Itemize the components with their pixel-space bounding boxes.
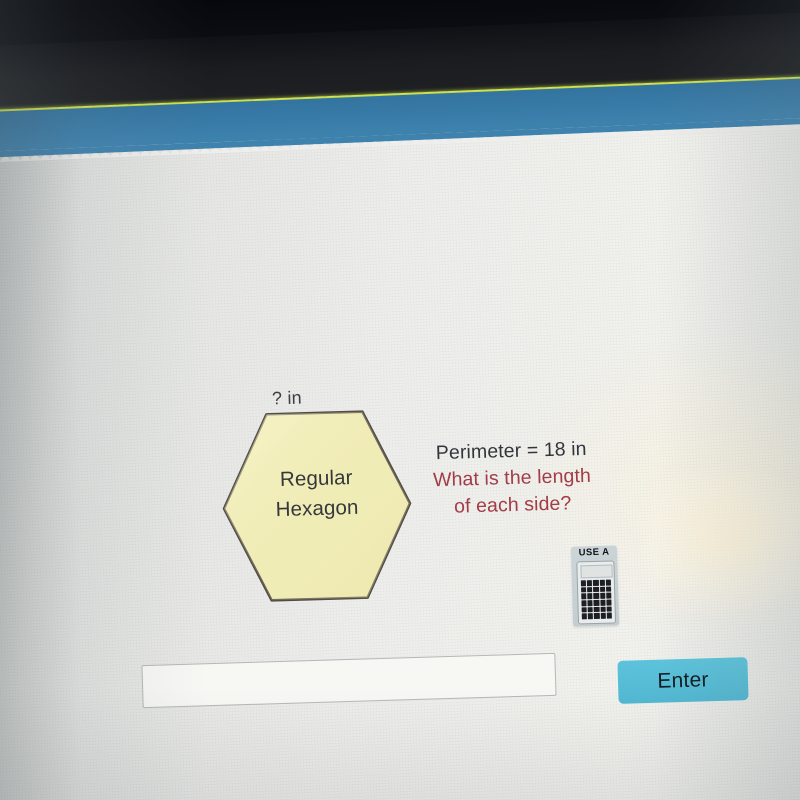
calculator-key <box>582 614 587 620</box>
calculator-key <box>587 580 592 586</box>
hexagon-figure: Regular Hexagon <box>218 407 415 604</box>
calculator-key <box>581 600 586 606</box>
calculator-display <box>580 565 612 579</box>
calculator-key <box>606 600 611 606</box>
enter-button[interactable]: Enter <box>617 657 748 704</box>
hexagon-label: Regular Hexagon <box>220 461 414 526</box>
calculator-key <box>600 606 605 612</box>
calculator-key <box>588 607 593 613</box>
calculator-key <box>600 613 605 619</box>
calculator-key <box>588 613 593 619</box>
calculator-key <box>606 580 611 586</box>
calculator-key <box>607 613 612 619</box>
calculator-key <box>593 587 598 593</box>
use-a-calculator-badge[interactable]: USE A <box>571 545 619 626</box>
photo-of-screen: ? in Regular Hexagon Perim <box>0 0 800 800</box>
use-a-calculator-label: USE A <box>571 546 617 558</box>
calculator-key <box>606 606 611 612</box>
calculator-icon <box>576 560 616 624</box>
calculator-key <box>606 586 611 592</box>
calculator-key <box>581 580 586 586</box>
hexagon-label-line-2: Hexagon <box>221 491 414 526</box>
calculator-key <box>606 593 611 599</box>
calculator-key <box>599 580 604 586</box>
calculator-key <box>594 600 599 606</box>
answer-input[interactable] <box>141 653 556 708</box>
calculator-key <box>581 587 586 593</box>
calculator-key <box>581 594 586 600</box>
calculator-key <box>594 607 599 613</box>
worksheet-content: ? in Regular Hexagon Perim <box>0 0 800 800</box>
calculator-key <box>588 600 593 606</box>
calculator-key <box>594 593 599 599</box>
calculator-key <box>600 600 605 606</box>
hexagon-side-label: ? in <box>272 388 302 410</box>
calculator-key <box>594 613 599 619</box>
calculator-key <box>587 593 592 599</box>
calculator-key <box>600 586 605 592</box>
question-block: Perimeter = 18 in What is the length of … <box>405 435 619 522</box>
calculator-key <box>587 587 592 593</box>
calculator-key <box>582 607 587 613</box>
calculator-key <box>593 580 598 586</box>
calculator-keypad <box>581 580 612 620</box>
calculator-key <box>600 593 605 599</box>
